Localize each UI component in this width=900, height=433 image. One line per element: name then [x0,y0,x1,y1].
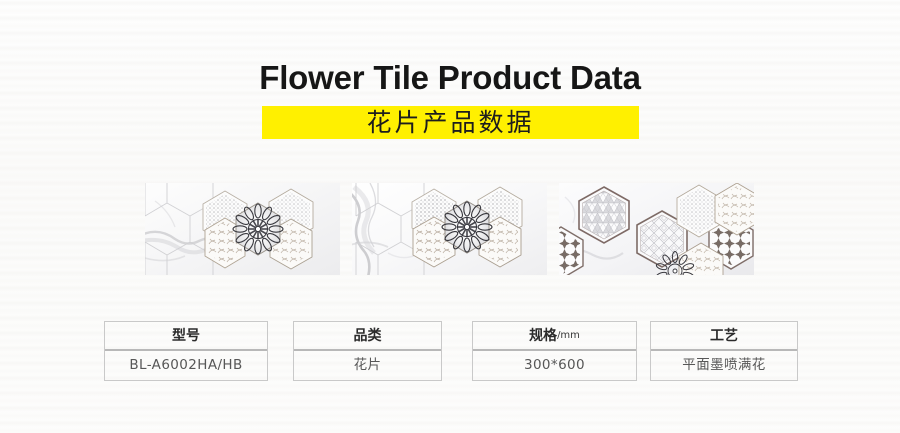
spec-header-model-label: 型号 [172,329,200,343]
spec-cell-category: 品类 花片 [293,321,442,381]
spec-header-category-label: 品类 [354,329,382,343]
spec-cell-process: 工艺 平面墨喷满花 [650,321,798,381]
spec-header-process: 工艺 [651,322,797,351]
hexagon-marble-mandala-tile-1-graphic [145,183,340,275]
hexagon-geometric-pattern-tile-3-graphic [559,183,754,275]
spec-header-size-unit: /mm [557,331,580,341]
tile-image-2[interactable] [352,183,547,275]
spec-header-size-label: 规格 [529,329,557,343]
spec-value-size: 300*600 [473,351,636,380]
spec-value-category: 花片 [294,351,441,380]
spec-header-size: 规格/mm [473,322,636,351]
page-title-english: Flower Tile Product Data [0,58,900,98]
tile-image-3[interactable] [559,183,754,275]
hexagon-marble-mandala-tile-2-graphic [352,183,547,275]
spec-header-model: 型号 [105,322,267,351]
spec-header-process-label: 工艺 [710,329,738,343]
spec-value-model: BL-A6002HA/HB [105,351,267,380]
spec-cell-size: 规格/mm 300*600 [472,321,637,381]
spec-cell-model: 型号 BL-A6002HA/HB [104,321,268,381]
spec-value-process: 平面墨喷满花 [651,351,797,380]
tile-image-1[interactable] [145,183,340,275]
page-background: Flower Tile Product Data 花片产品数据 [0,0,900,433]
tile-image-gallery [145,183,755,275]
spec-header-category: 品类 [294,322,441,351]
product-spec-table: 型号 BL-A6002HA/HB 品类 花片 规格/mm 300*600 工艺 … [104,321,798,381]
page-title-chinese: 花片产品数据 [262,106,639,139]
